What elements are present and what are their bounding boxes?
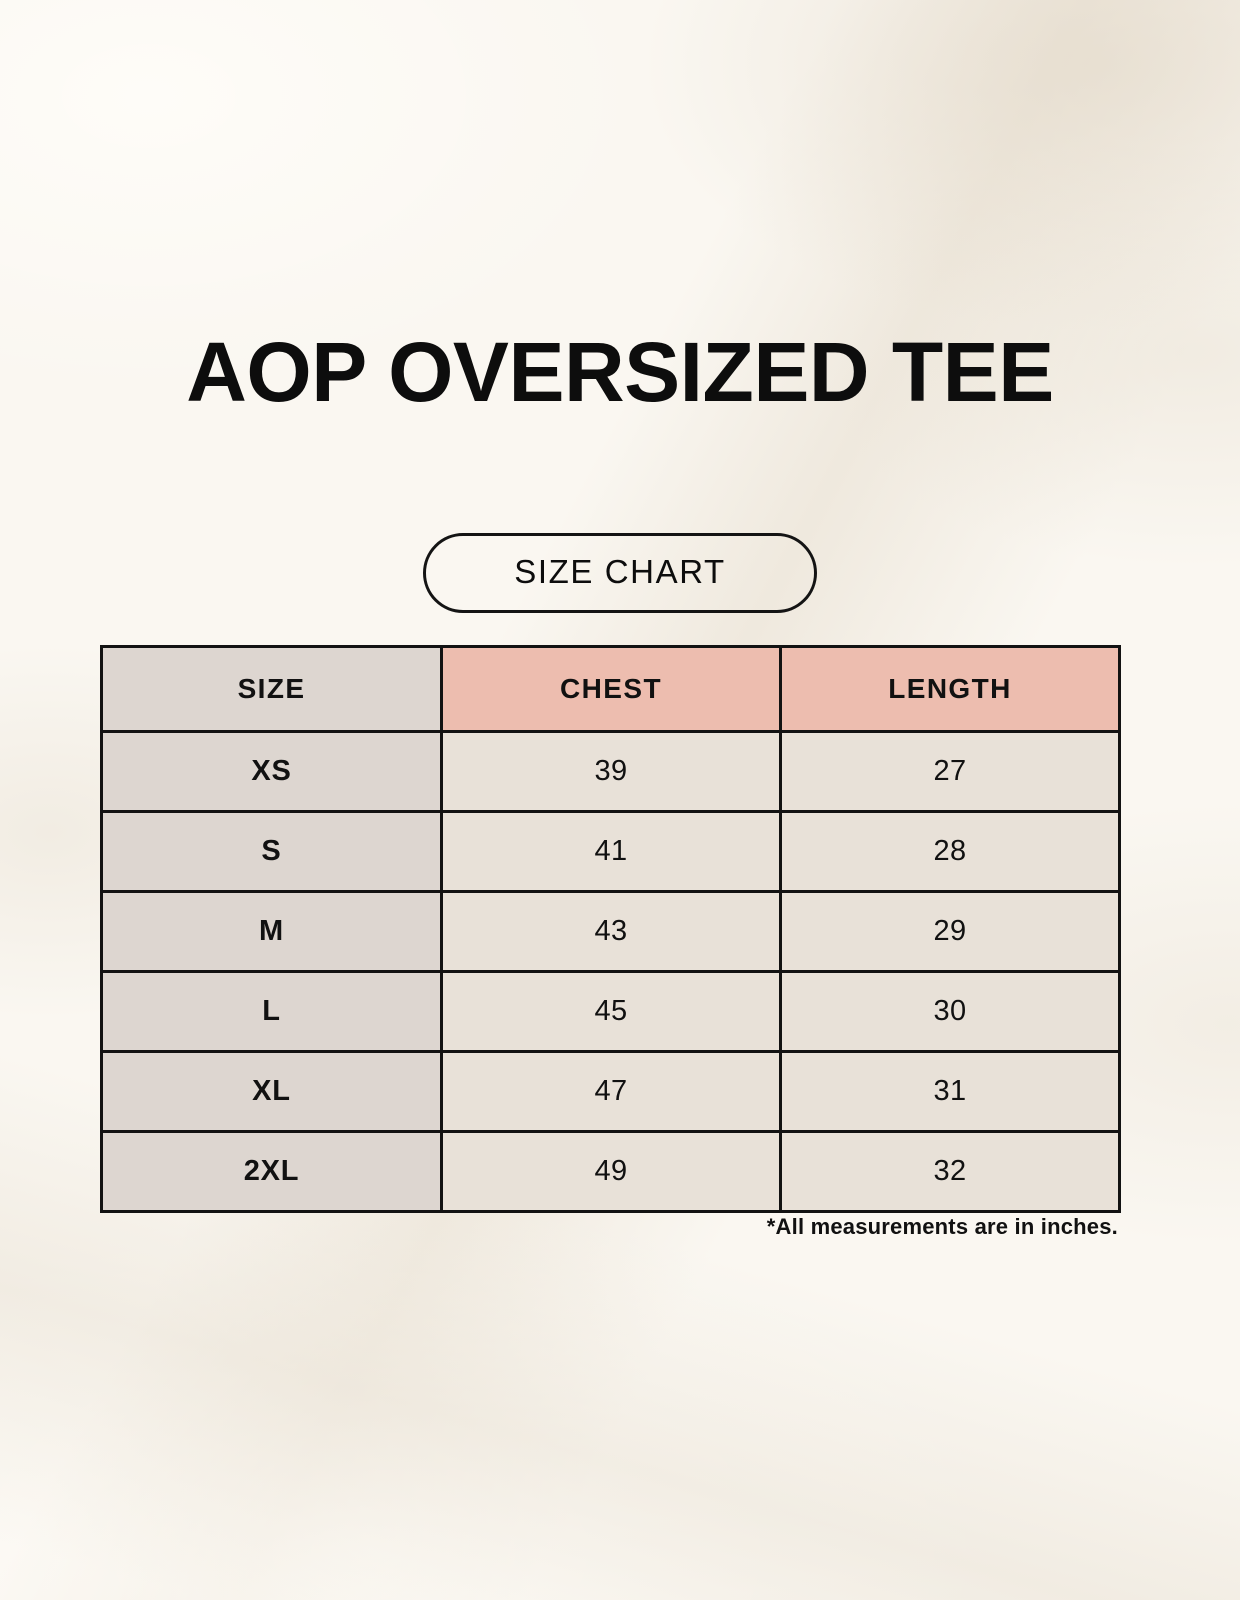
title-block: AOP OVERSIZED TEE bbox=[0, 332, 1240, 413]
cell-chest: 45 bbox=[442, 972, 781, 1052]
cell-size: XS bbox=[102, 732, 442, 812]
measurement-footnote: *All measurements are in inches. bbox=[0, 1214, 1118, 1240]
cell-chest: 43 bbox=[442, 892, 781, 972]
size-chart-page: AOP OVERSIZED TEE SIZE CHART SIZE CHEST … bbox=[0, 0, 1240, 1600]
table-row: S 41 28 bbox=[102, 812, 1120, 892]
cell-chest: 41 bbox=[442, 812, 781, 892]
column-header-size: SIZE bbox=[102, 647, 442, 732]
cell-length: 30 bbox=[781, 972, 1120, 1052]
table-row: XL 47 31 bbox=[102, 1052, 1120, 1132]
column-header-chest: CHEST bbox=[442, 647, 781, 732]
cell-size: S bbox=[102, 812, 442, 892]
table-row: XS 39 27 bbox=[102, 732, 1120, 812]
cell-chest: 49 bbox=[442, 1132, 781, 1212]
table-row: 2XL 49 32 bbox=[102, 1132, 1120, 1212]
table-header-row: SIZE CHEST LENGTH bbox=[102, 647, 1120, 732]
cell-size: 2XL bbox=[102, 1132, 442, 1212]
column-header-length: LENGTH bbox=[781, 647, 1120, 732]
table-row: M 43 29 bbox=[102, 892, 1120, 972]
cell-size: XL bbox=[102, 1052, 442, 1132]
size-chart-badge: SIZE CHART bbox=[423, 533, 817, 613]
size-table-wrap: SIZE CHEST LENGTH XS 39 27 S 41 28 bbox=[100, 645, 1118, 1213]
page-title: AOP OVERSIZED TEE bbox=[0, 332, 1240, 413]
cell-length: 28 bbox=[781, 812, 1120, 892]
badge-wrap: SIZE CHART bbox=[0, 533, 1240, 613]
cell-length: 27 bbox=[781, 732, 1120, 812]
table-head: SIZE CHEST LENGTH bbox=[102, 647, 1120, 732]
cell-length: 31 bbox=[781, 1052, 1120, 1132]
table-body: XS 39 27 S 41 28 M 43 29 L bbox=[102, 732, 1120, 1212]
cell-chest: 39 bbox=[442, 732, 781, 812]
cell-size: L bbox=[102, 972, 442, 1052]
cell-length: 32 bbox=[781, 1132, 1120, 1212]
cell-chest: 47 bbox=[442, 1052, 781, 1132]
table-row: L 45 30 bbox=[102, 972, 1120, 1052]
cell-length: 29 bbox=[781, 892, 1120, 972]
size-chart-table: SIZE CHEST LENGTH XS 39 27 S 41 28 bbox=[100, 645, 1121, 1213]
cell-size: M bbox=[102, 892, 442, 972]
